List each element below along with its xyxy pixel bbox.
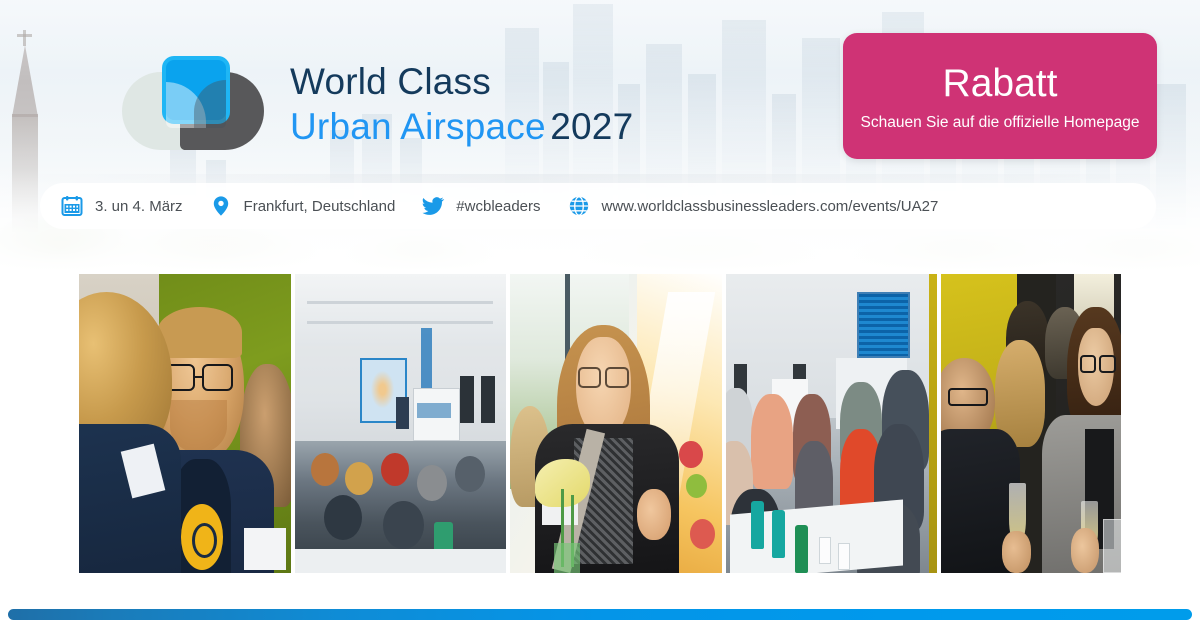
photo-2-presenter — [396, 397, 409, 430]
photo-1-scene — [79, 274, 291, 573]
event-banner: World Class Urban Airspace 2027 Rabatt S… — [0, 0, 1200, 627]
photo-4-water-bottle — [795, 525, 808, 573]
title-highlight: Urban Airspace — [290, 106, 546, 147]
info-item-hashtag[interactable]: #wcbleaders — [421, 194, 540, 218]
photo-1-yellow-award — [181, 504, 223, 570]
photo-5-hand — [1071, 528, 1100, 573]
map-pin-icon — [209, 194, 233, 218]
blue-square-icon — [162, 56, 230, 124]
event-info-bar: 3. un 4. März Frankfurt, Deutschland #wc… — [40, 183, 1156, 229]
info-item-location: Frankfurt, Deutschland — [209, 194, 396, 218]
photo-4-glass — [838, 543, 851, 570]
photo-5-glasses-left — [1080, 355, 1096, 373]
photo-3-hand — [637, 489, 671, 540]
logo-overlap-right — [194, 80, 226, 128]
photo-3-vase — [554, 543, 579, 573]
photo-2-speaker-left — [460, 376, 475, 424]
info-website-text: www.worldclassbusinessleaders.com/events… — [602, 198, 939, 215]
photo-5-tumbler — [1103, 519, 1121, 573]
photo-1-networking-conversation — [79, 274, 291, 573]
photo-4-edge-wall — [929, 274, 937, 573]
event-logo — [122, 56, 264, 152]
info-location-text: Frankfurt, Deutschland — [244, 198, 396, 215]
photo-4-glass — [819, 537, 832, 564]
title-line-1: World Class — [290, 60, 633, 104]
photo-3-fruit — [679, 441, 702, 468]
photo-2-head — [455, 456, 485, 492]
photo-4-scene — [726, 274, 938, 573]
photo-4-blue-display — [857, 292, 910, 358]
photo-4-person — [751, 394, 793, 490]
photo-4-workshop-roundtable — [726, 274, 938, 573]
photo-3-glasses-left — [578, 367, 601, 388]
discount-badge[interactable]: Rabatt Schauen Sie auf die offizielle Ho… — [843, 33, 1157, 159]
photo-1-glasses-right — [202, 364, 234, 391]
photo-5-man-glasses — [948, 388, 988, 406]
twitter-bird-icon — [421, 194, 445, 218]
photo-3-fruit — [690, 519, 715, 549]
photo-2-head — [381, 453, 408, 486]
photo-2-head — [383, 501, 423, 549]
globe-icon — [567, 194, 591, 218]
info-item-website[interactable]: www.worldclassbusinessleaders.com/events… — [567, 194, 939, 218]
photo-5-hand — [1002, 531, 1031, 573]
photo-2-conference-room — [295, 274, 507, 573]
photo-1-name-badge — [244, 528, 286, 570]
info-date-text: 3. un 4. März — [95, 198, 183, 215]
title-line-2: Urban Airspace 2027 — [290, 104, 633, 158]
photo-4-water-bottle — [751, 501, 764, 549]
photo-5-glasses-right — [1099, 355, 1115, 373]
photo-2-stage-logo — [417, 403, 451, 418]
photo-3-fruit — [686, 474, 707, 498]
photo-1-glasses-bridge — [195, 376, 201, 378]
photo-1-man1-suit — [79, 424, 181, 574]
photo-5-scene — [941, 274, 1121, 573]
page-title: World Class Urban Airspace 2027 — [290, 60, 633, 158]
photo-2-head — [311, 453, 338, 486]
calendar-icon — [60, 194, 84, 218]
title-year: 2027 — [550, 106, 633, 147]
photo-2-head — [324, 495, 362, 540]
photo-3-woman-speaking — [510, 274, 722, 573]
photo-2-speaker-right — [481, 376, 496, 424]
photo-5-reception — [941, 274, 1121, 573]
badge-subtitle: Schauen Sie auf die offizielle Homepage — [861, 114, 1140, 132]
photo-2-table — [295, 549, 507, 573]
photo-2-ceiling — [295, 274, 507, 346]
photo-3-scene — [510, 274, 722, 573]
photo-2-scene — [295, 274, 507, 573]
photo-1-man2-hair — [157, 307, 242, 358]
badge-title: Rabatt — [943, 61, 1058, 107]
photo-3-glasses-right — [605, 367, 628, 388]
photo-4-water-bottle — [772, 510, 785, 558]
bottom-accent-bar — [8, 609, 1192, 620]
photo-2-head — [345, 462, 372, 495]
photo-2-head — [417, 465, 447, 501]
info-hashtag-text: #wcbleaders — [456, 198, 540, 215]
info-item-date: 3. un 4. März — [60, 194, 183, 218]
photo-strip — [79, 274, 1121, 573]
